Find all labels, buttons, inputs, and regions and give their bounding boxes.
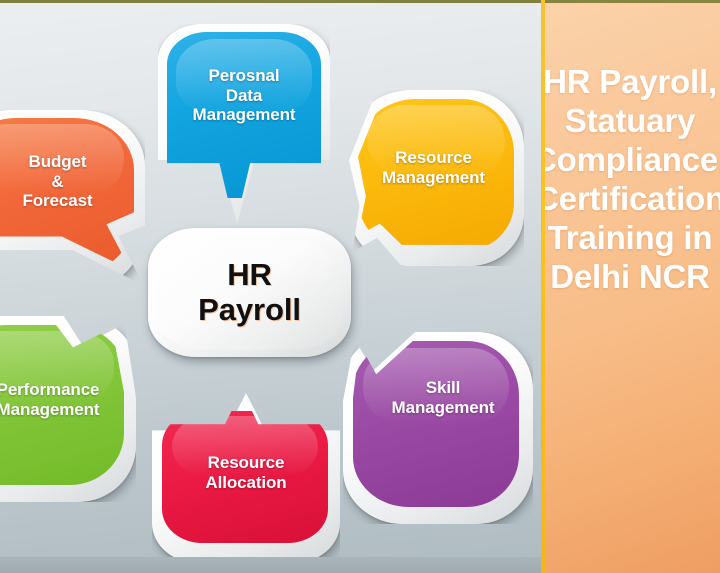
bubble-label: Perosnal Data Management (158, 66, 330, 125)
center-bubble-label: HR Payroll (148, 258, 351, 327)
bubble-performance-management[interactable]: Performance Management (0, 316, 136, 502)
top-rule-divider (0, 0, 541, 3)
headline-panel: HR Payroll, Statuary Compliance, Certifi… (541, 0, 720, 573)
bubble-fill (353, 341, 519, 507)
bubble-label: Skill Management (343, 378, 533, 417)
bubble-budget-forecast[interactable]: Budget & Forecast (0, 110, 145, 285)
top-rule-divider-right (541, 0, 720, 3)
bubble-personal-data-management[interactable]: Perosnal Data Management (158, 24, 330, 224)
bubble-label: Resource Allocation (152, 453, 340, 492)
bubble-label: Resource Management (349, 148, 524, 187)
bubble-skill-management[interactable]: Skill Management (343, 332, 533, 524)
bubble-resource-management[interactable]: Resource Management (349, 90, 524, 266)
headline-text: HR Payroll, Statuary Compliance, Certifi… (541, 62, 720, 296)
bubble-resource-allocation[interactable]: Resource Allocation (152, 393, 340, 563)
panel-divider (541, 0, 545, 573)
infographic-canvas: Perosnal Data Management Budget & Foreca… (0, 0, 720, 573)
bubble-label: Budget & Forecast (0, 152, 145, 211)
bubble-hr-payroll-center[interactable]: HR Payroll (148, 228, 351, 357)
bubble-label: Performance Management (0, 380, 136, 419)
diagram-panel: Perosnal Data Management Budget & Foreca… (0, 0, 541, 573)
bottom-band (0, 557, 541, 573)
